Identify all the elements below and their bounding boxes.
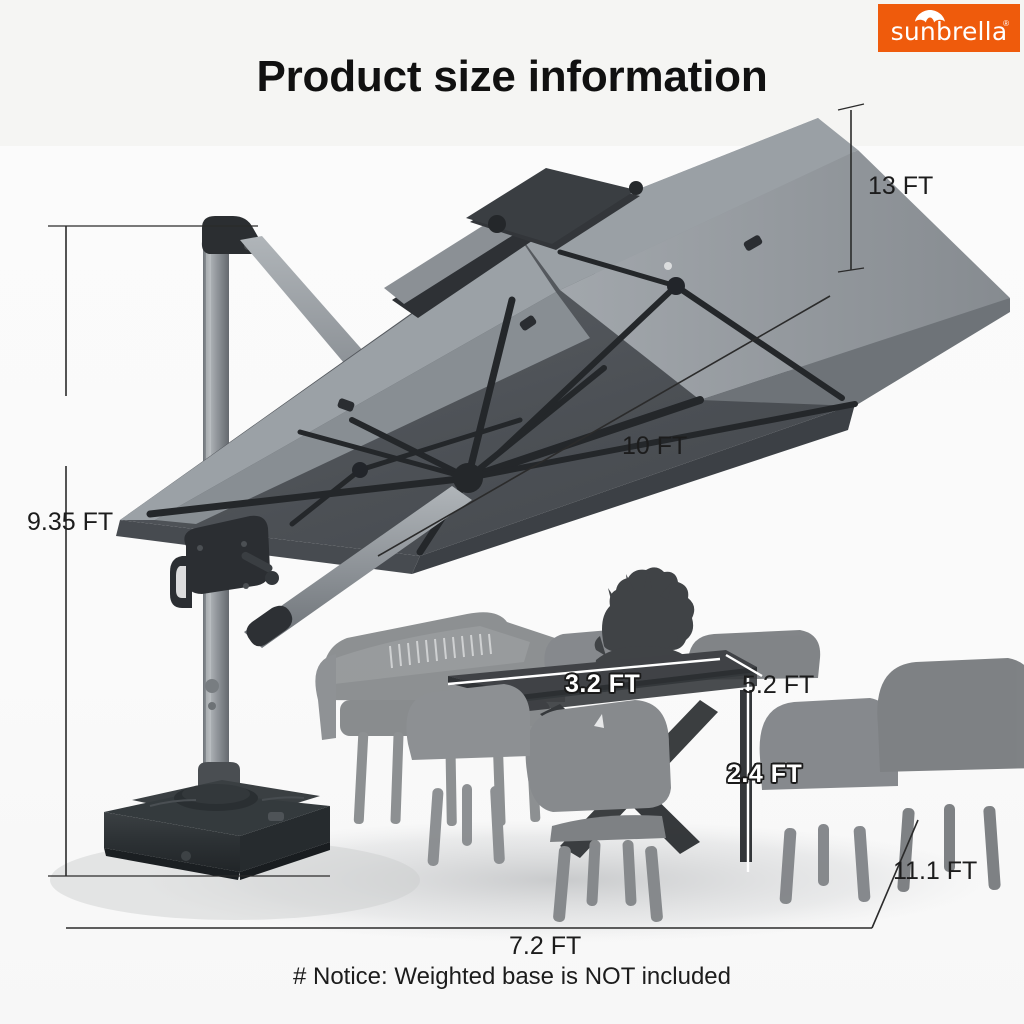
product-illustration — [0, 0, 1024, 1024]
dimension-label-table-height: 2.4 FT — [727, 760, 802, 789]
pole-pin — [208, 702, 216, 710]
strut-clamp — [246, 606, 292, 647]
brand-name: sunbrella — [883, 17, 1015, 47]
rib-hub — [453, 463, 483, 493]
page-title: Product size information — [0, 52, 1024, 102]
dimension-label-footprint-width: 7.2 FT — [509, 932, 581, 961]
pole-button — [205, 679, 219, 693]
chair-far-left — [315, 654, 336, 740]
infographic-canvas: sunbrella ® Product size information 13 … — [0, 0, 1024, 1024]
dimension-label-canopy-span: 10 FT — [622, 432, 687, 461]
dimension-label-table-width: 3.2 FT — [565, 670, 640, 699]
dimension-label-footprint-depth: 11.1 FT — [893, 857, 977, 886]
canopy-height-tick-top — [838, 104, 864, 110]
rib-highlight-dot — [664, 262, 672, 270]
dimension-label-table-depth: 5.2 FT — [742, 671, 814, 700]
notice-text: # Notice: Weighted base is NOT included — [0, 963, 1024, 991]
dimension-label-overall-height: 9.35 FT — [27, 508, 113, 537]
rib-joint-upper — [667, 277, 685, 295]
vent-fitting — [488, 215, 506, 233]
brand-registered-mark: ® — [1003, 19, 1009, 28]
vent-fitting-2 — [629, 181, 643, 195]
dimension-label-canopy-height: 13 FT — [868, 172, 933, 201]
brand-logo[interactable]: sunbrella ® — [878, 4, 1020, 52]
rib-joint-left — [352, 462, 368, 478]
